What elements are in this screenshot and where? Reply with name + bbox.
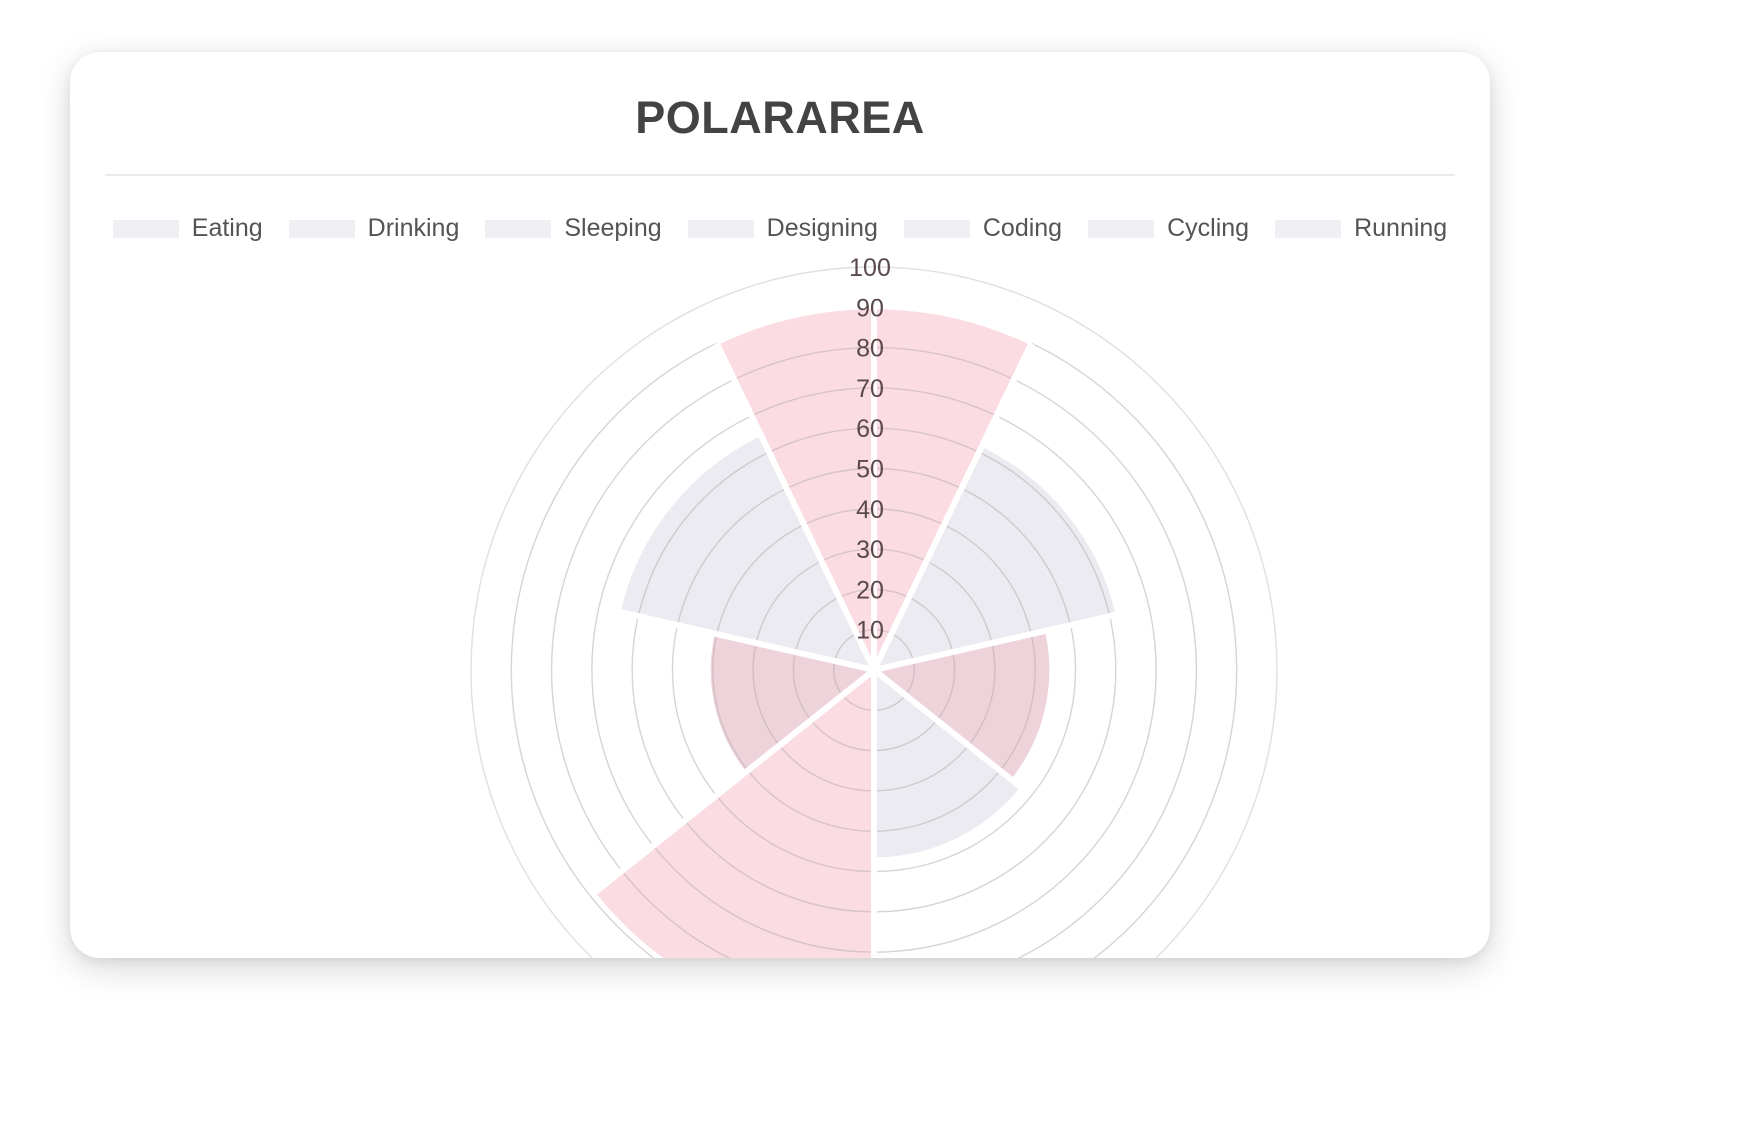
legend-swatch-icon (485, 220, 551, 238)
legend-swatch-icon (688, 220, 754, 238)
sector-outer-edge-0 (717, 307, 1032, 343)
sector-outer-edge-2 (1013, 631, 1052, 781)
legend-swatch-icon (113, 220, 179, 238)
radial-tick-label-90: 90 (856, 294, 884, 322)
radial-tick-label-10: 10 (856, 617, 884, 645)
legend-item-label: Running (1354, 214, 1447, 243)
sector-outer-edge-3 (874, 788, 1022, 859)
chart-card: POLARAREA EatingDrinkingSleepingDesignin… (70, 52, 1490, 958)
sector-divider-3 (874, 670, 1022, 788)
sector-outer-edge-1 (982, 445, 1117, 615)
radial-tick-label-60: 60 (856, 415, 884, 443)
legend-item-running[interactable]: Running (1275, 214, 1447, 243)
legend-swatch-icon (289, 220, 355, 238)
legend-item-label: Designing (767, 214, 878, 243)
grid-ring-30 (753, 549, 995, 791)
radial-tick-label-50: 50 (856, 456, 884, 484)
page-title: POLARAREA (70, 92, 1490, 144)
sector-divider-5 (594, 670, 874, 894)
sector-divider-6 (619, 612, 874, 670)
legend-item-label: Eating (192, 214, 263, 243)
legend-item-designing[interactable]: Designing (688, 214, 878, 243)
grid-ring-100 (471, 267, 1277, 958)
polar-area-chart: 102030405060708090100 (70, 52, 1490, 958)
legend-swatch-icon (1088, 220, 1154, 238)
radial-tick-label-40: 40 (856, 496, 884, 524)
legend-item-coding[interactable]: Coding (904, 214, 1062, 243)
polar-spokes (594, 307, 1118, 958)
grid-ring-90 (511, 307, 1236, 958)
legend-item-label: Sleeping (564, 214, 661, 243)
grid-ring-60 (632, 428, 1116, 912)
legend-swatch-icon (904, 220, 970, 238)
polar-tick-labels: 102030405060708090100 (849, 254, 891, 670)
grid-ring-70 (592, 388, 1156, 952)
radial-tick-label-100: 100 (849, 254, 891, 282)
legend-item-label: Coding (983, 214, 1062, 243)
radial-tick-label-30: 30 (856, 536, 884, 564)
polar-sector-cycling[interactable] (709, 633, 874, 773)
screen: POLARAREA EatingDrinkingSleepingDesignin… (0, 0, 1763, 1146)
sector-divider-2 (874, 614, 1118, 670)
polar-area-svg: 102030405060708090100 (70, 52, 1490, 958)
sector-outer-edge-6 (619, 434, 761, 612)
legend-swatch-icon (1275, 220, 1341, 238)
chart-legend: EatingDrinkingSleepingDesigningCodingCyc… (70, 214, 1490, 243)
legend-item-drinking[interactable]: Drinking (289, 214, 460, 243)
polar-grid-rings (471, 267, 1277, 958)
sector-outer-edge-5 (709, 633, 745, 773)
sector-divider-0 (717, 343, 874, 670)
grid-ring-20 (793, 589, 954, 750)
legend-item-label: Cycling (1167, 214, 1249, 243)
grid-ring-40 (713, 509, 1035, 831)
title-divider (105, 174, 1455, 176)
legend-item-cycling[interactable]: Cycling (1088, 214, 1249, 243)
legend-item-eating[interactable]: Eating (113, 214, 263, 243)
grid-ring-50 (673, 469, 1076, 872)
radial-tick-label-70: 70 (856, 375, 884, 403)
polar-sector-drinking[interactable] (874, 445, 1118, 670)
radial-tick-label-20: 20 (856, 576, 884, 604)
grid-ring-80 (552, 348, 1197, 958)
polar-sector-eating[interactable] (717, 307, 1032, 670)
sector-divider-1 (874, 343, 1031, 670)
polar-sector-running[interactable] (619, 434, 874, 670)
polar-sector-designing[interactable] (874, 670, 1022, 859)
polar-sectors (594, 307, 1118, 958)
radial-tick-label-80: 80 (856, 335, 884, 363)
polar-sector-coding[interactable] (594, 670, 874, 958)
legend-item-sleeping[interactable]: Sleeping (485, 214, 661, 243)
grid-ring-10 (834, 630, 915, 711)
polar-sector-sleeping[interactable] (874, 631, 1051, 781)
sector-outer-edge-4 (594, 894, 874, 958)
legend-item-label: Drinking (368, 214, 460, 243)
